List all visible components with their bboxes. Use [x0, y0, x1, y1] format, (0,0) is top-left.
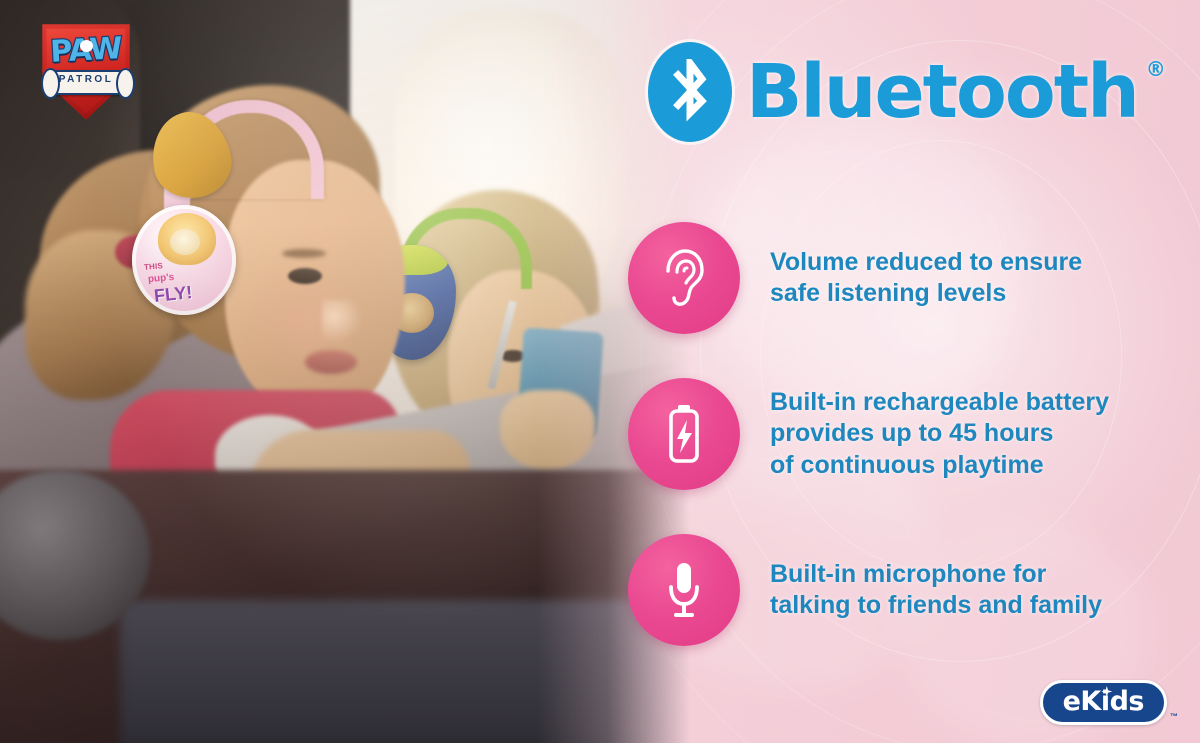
- battery-bolt-icon: [628, 378, 740, 490]
- registered-mark: ®: [1146, 59, 1164, 79]
- feature-item-microphone: Built-in microphone for talking to frien…: [628, 534, 1168, 646]
- bluetooth-icon: [648, 42, 732, 142]
- feature-item-volume: Volume reduced to ensure safe listening …: [628, 222, 1168, 334]
- paw-patrol-logo: PAW PATROL: [34, 18, 138, 122]
- trademark-mark: ™: [1170, 713, 1178, 725]
- paw-print-icon: [80, 40, 93, 52]
- microphone-icon: [628, 534, 740, 646]
- product-feature-banner: THIS pup's FLY! PAW PATROL B: [0, 0, 1200, 743]
- bluetooth-lockup: Bluetooth ®: [648, 42, 1138, 142]
- feature-list: Volume reduced to ensure safe listening …: [628, 222, 1168, 646]
- feature-text: Volume reduced to ensure safe listening …: [770, 247, 1082, 310]
- ekids-logo: eKids ™: [1040, 680, 1178, 725]
- feature-text: Built-in rechargeable battery provides u…: [770, 387, 1109, 481]
- bluetooth-wordmark: Bluetooth ®: [746, 55, 1138, 129]
- feature-text: Built-in microphone for talking to frien…: [770, 559, 1102, 622]
- bluetooth-wordmark-text: Bluetooth: [746, 49, 1138, 135]
- feature-item-battery: Built-in rechargeable battery provides u…: [628, 378, 1168, 490]
- paw-patrol-subtext: PATROL: [34, 75, 138, 85]
- ear-icon: [628, 222, 740, 334]
